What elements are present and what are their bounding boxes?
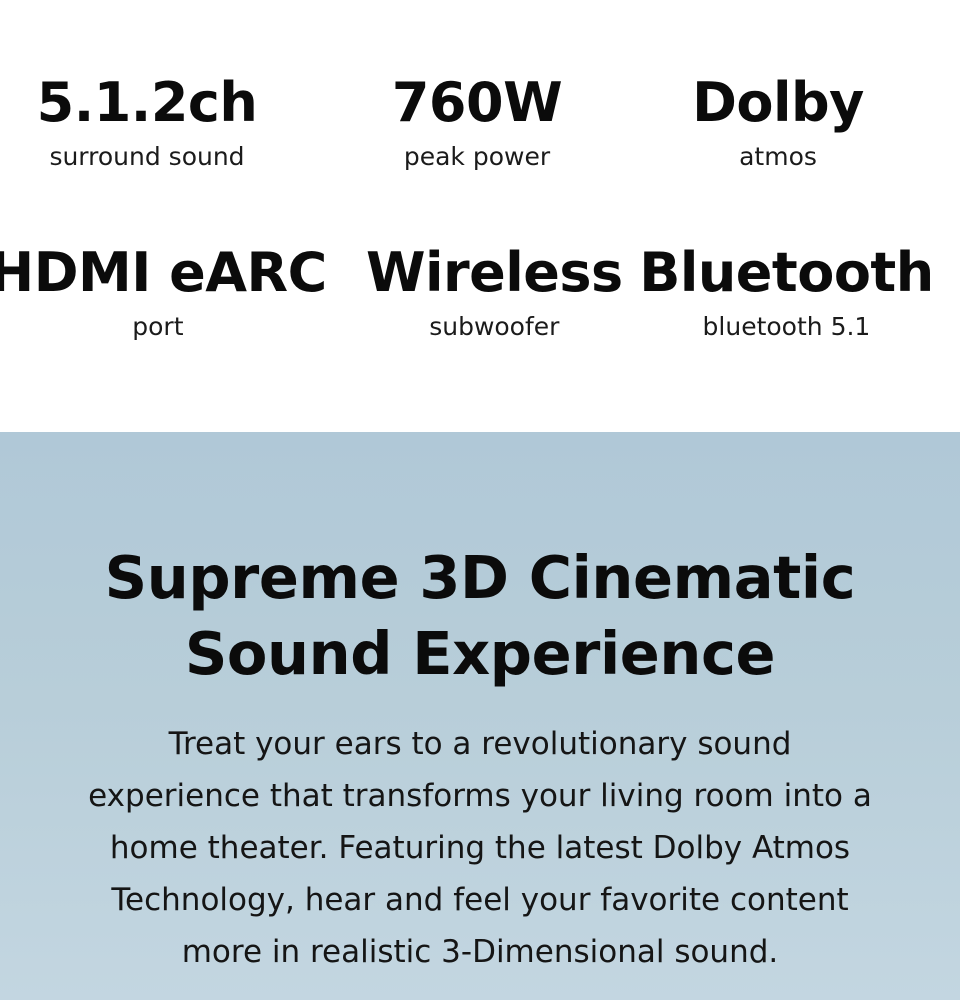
hero-title-line-2: Sound Experience	[185, 619, 775, 688]
spec-cell-hdmi-earc: HDMI eARC port	[0, 242, 331, 344]
spec-cell-dolby-atmos: Dolby atmos	[618, 72, 938, 174]
spec-value: HDMI eARC	[0, 242, 327, 304]
specs-row-1: 5.1.2ch surround sound 760W peak power D…	[0, 72, 960, 174]
spec-value: 760W	[321, 72, 633, 134]
spec-value: Dolby	[622, 72, 934, 134]
spec-label: surround sound	[0, 140, 303, 174]
spec-value: 5.1.2ch	[0, 72, 303, 134]
spec-label: peak power	[321, 140, 633, 174]
specs-row-2: HDMI eARC port Wireless subwoofer Blueto…	[0, 242, 960, 344]
hero-title: Supreme 3D Cinematic Sound Experience	[100, 540, 860, 692]
spec-value: Bluetooth	[637, 242, 936, 304]
spec-label: bluetooth 5.1	[637, 310, 936, 344]
spec-cell-wireless-subwoofer: Wireless subwoofer	[341, 242, 648, 344]
hero-title-line-1: Supreme 3D Cinematic	[105, 543, 856, 612]
hero-section: Supreme 3D Cinematic Sound Experience Tr…	[0, 432, 960, 1000]
spec-cell-peak-power: 760W peak power	[317, 72, 637, 174]
spec-label: subwoofer	[345, 310, 644, 344]
spec-label: atmos	[622, 140, 934, 174]
hero-paragraph: Treat your ears to a revolutionary sound…	[85, 718, 875, 978]
specs-section: 5.1.2ch surround sound 760W peak power D…	[0, 0, 960, 432]
spec-cell-surround-sound: 5.1.2ch surround sound	[0, 72, 307, 174]
product-detail-page: 5.1.2ch surround sound 760W peak power D…	[0, 0, 960, 1000]
spec-value: Wireless	[345, 242, 644, 304]
spec-label: port	[0, 310, 327, 344]
spec-cell-bluetooth: Bluetooth bluetooth 5.1	[633, 242, 940, 344]
